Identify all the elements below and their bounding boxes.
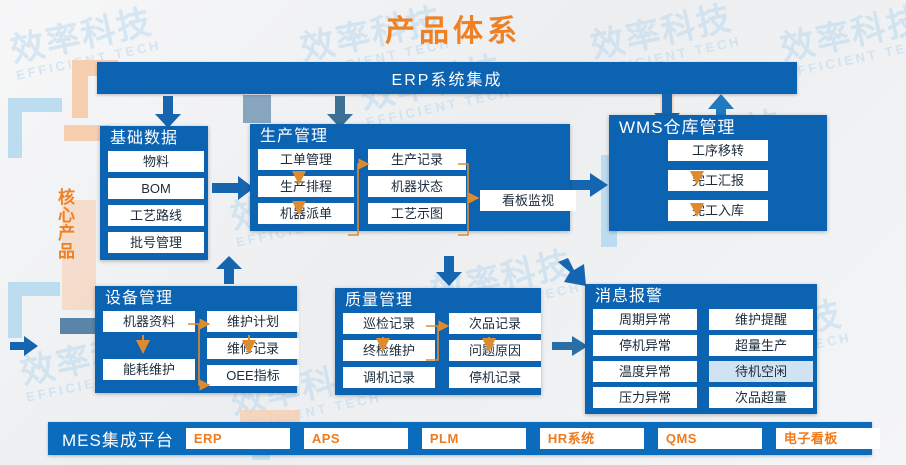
module-title: WMS仓库管理 xyxy=(609,115,827,140)
decor-shape xyxy=(60,318,100,334)
decor-shape xyxy=(8,98,62,112)
item-repair-record[interactable]: 维修记录 xyxy=(207,338,299,359)
module-production-management[interactable]: 生产管理 工单管理 生产排程 机器派单 生产记录 机器状态 工艺示图 看板监视 xyxy=(250,124,570,231)
erp-integration-banner: ERP系统集成 xyxy=(97,62,797,94)
module-column: 维护计划 维修记录 OEE指标 xyxy=(207,311,299,386)
decor-shape xyxy=(8,282,60,296)
arrow-right-quality-to-message xyxy=(552,336,588,356)
item-setup-record[interactable]: 调机记录 xyxy=(343,367,435,388)
module-message-alarm[interactable]: 消息报警 周期异常 停机异常 温度异常 压力异常 维护提醒 超量生产 待机空闲 … xyxy=(585,284,817,414)
chip-erp[interactable]: ERP xyxy=(186,428,290,449)
item-scheduling[interactable]: 生产排程 xyxy=(258,176,354,197)
item-standby-idle[interactable]: 待机空闲 xyxy=(709,361,813,382)
item-bom[interactable]: BOM xyxy=(108,178,204,199)
item-temperature-anomaly[interactable]: 温度异常 xyxy=(593,361,697,382)
mes-platform-label: MES集成平台 xyxy=(62,426,174,451)
module-title: 消息报警 xyxy=(585,284,817,309)
item-material[interactable]: 物料 xyxy=(108,151,204,172)
decor-shape xyxy=(243,95,271,123)
item-work-order[interactable]: 工单管理 xyxy=(258,149,354,170)
module-wms-warehouse-management[interactable]: WMS仓库管理 工序移转 完工汇报 完工入库 xyxy=(609,115,827,231)
module-column: 工单管理 生产排程 机器派单 xyxy=(258,149,354,224)
chip-aps[interactable]: APS xyxy=(304,428,408,449)
module-title: 设备管理 xyxy=(95,286,297,311)
module-column: 周期异常 停机异常 温度异常 压力异常 xyxy=(593,309,697,408)
module-column: 维护提醒 超量生产 待机空闲 次品超量 xyxy=(709,309,813,408)
erp-banner-label: ERP系统集成 xyxy=(392,66,503,90)
item-problem-cause[interactable]: 问题原因 xyxy=(449,340,541,361)
module-column: 看板监视 xyxy=(480,149,576,224)
item-pressure-anomaly[interactable]: 压力异常 xyxy=(593,387,697,408)
item-kanban-monitor[interactable]: 看板监视 xyxy=(480,190,576,211)
module-title: 基础数据 xyxy=(100,126,208,151)
module-basic-data[interactable]: 基础数据 物料 BOM 工艺路线 批号管理 xyxy=(100,126,208,260)
item-machine-status[interactable]: 机器状态 xyxy=(368,176,466,197)
module-column: 巡检记录 终检维护 调机记录 xyxy=(343,313,435,388)
item-downtime-record[interactable]: 停机记录 xyxy=(449,367,541,388)
item-process-transfer[interactable]: 工序移转 xyxy=(668,140,768,161)
item-overproduction[interactable]: 超量生产 xyxy=(709,335,813,356)
item-cycle-anomaly[interactable]: 周期异常 xyxy=(593,309,697,330)
arrow-right-into-equipment xyxy=(10,336,38,356)
core-product-side-label: 核心产品 xyxy=(52,188,74,267)
item-finished-goods-in[interactable]: 完工入库 xyxy=(668,200,768,221)
item-production-record[interactable]: 生产记录 xyxy=(368,149,466,170)
item-batch-mgmt[interactable]: 批号管理 xyxy=(108,232,204,253)
module-column: 物料 BOM 工艺路线 批号管理 xyxy=(108,151,204,253)
chip-plm[interactable]: PLM xyxy=(422,428,526,449)
item-downtime-anomaly[interactable]: 停机异常 xyxy=(593,335,697,356)
arrow-up-equipment-to-basic xyxy=(216,256,242,284)
chip-qms[interactable]: QMS xyxy=(658,428,762,449)
item-final-inspection[interactable]: 终检维护 xyxy=(343,340,435,361)
module-equipment-management[interactable]: 设备管理 机器资料 能耗维护 维护计划 维修记录 OEE指标 xyxy=(95,286,297,393)
item-defect-over-limit[interactable]: 次品超量 xyxy=(709,387,813,408)
item-energy-maintenance[interactable]: 能耗维护 xyxy=(103,359,195,380)
item-maintenance-plan[interactable]: 维护计划 xyxy=(207,311,299,332)
module-column: 工序移转 完工汇报 完工入库 xyxy=(668,140,768,221)
item-machine-profile[interactable]: 机器资料 xyxy=(103,311,195,332)
item-inspection-record[interactable]: 巡检记录 xyxy=(343,313,435,334)
module-column: 次品记录 问题原因 停机记录 xyxy=(449,313,541,388)
module-title: 质量管理 xyxy=(335,288,541,313)
item-oee-indicator[interactable]: OEE指标 xyxy=(207,365,299,386)
mes-platform-bar: MES集成平台 ERP APS PLM HR系统 QMS 电子看板 xyxy=(48,422,872,455)
module-title: 生产管理 xyxy=(250,124,570,149)
module-quality-management[interactable]: 质量管理 巡检记录 终检维护 调机记录 次品记录 问题原因 停机记录 xyxy=(335,288,541,395)
module-column: 机器资料 能耗维护 xyxy=(103,311,195,386)
module-column: 生产记录 机器状态 工艺示图 xyxy=(368,149,466,224)
arrow-right-basic-to-production xyxy=(212,176,254,200)
chip-e-kanban[interactable]: 电子看板 xyxy=(776,428,880,449)
item-defect-record[interactable]: 次品记录 xyxy=(449,313,541,334)
item-completion-report[interactable]: 完工汇报 xyxy=(668,170,768,191)
item-process-route[interactable]: 工艺路线 xyxy=(108,205,204,226)
arrow-down-production-to-quality xyxy=(436,256,462,286)
chip-hr-system[interactable]: HR系统 xyxy=(540,428,644,449)
item-process-diagram[interactable]: 工艺示图 xyxy=(368,203,466,224)
arrow-down-to-basic-data xyxy=(155,96,181,128)
product-architecture-diagram: 效率科技EFFICIENT TECH 效率科技EFFICIENT TECH 效率… xyxy=(0,0,906,465)
item-maintenance-reminder[interactable]: 维护提醒 xyxy=(709,309,813,330)
page-title: 产品体系 xyxy=(0,6,906,50)
item-machine-dispatch[interactable]: 机器派单 xyxy=(258,203,354,224)
